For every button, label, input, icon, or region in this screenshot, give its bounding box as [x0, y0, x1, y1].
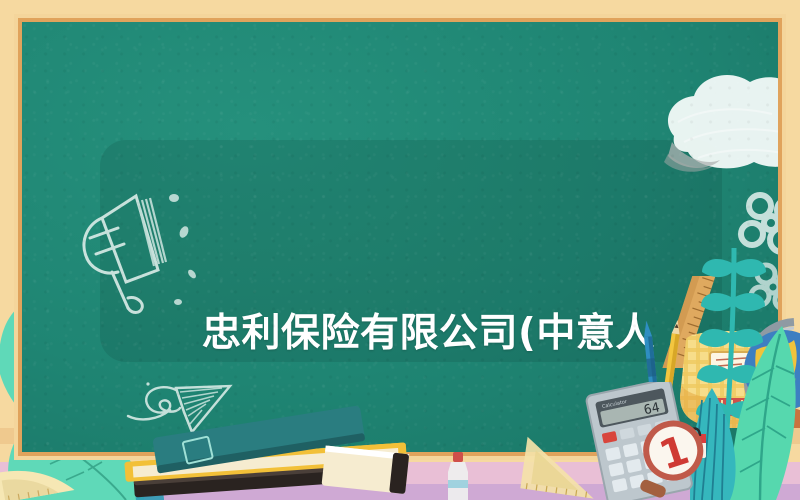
cloud-scribble-chalk-drawing [654, 62, 778, 192]
megaphone-chalk-drawing [66, 184, 216, 324]
book-stack [118, 404, 418, 500]
bottle [440, 452, 480, 500]
page-title-line-1: 忠利保险有限公司(中意人 [202, 306, 672, 362]
headline-backdrop-panel [100, 140, 722, 362]
cover-image-stage: 忠利保险有限公司(中意人 寿保险排名) [0, 0, 800, 500]
small-ruler [0, 458, 78, 500]
triangle-ruler [520, 430, 606, 500]
magnifying-glass: 1 [630, 420, 710, 500]
